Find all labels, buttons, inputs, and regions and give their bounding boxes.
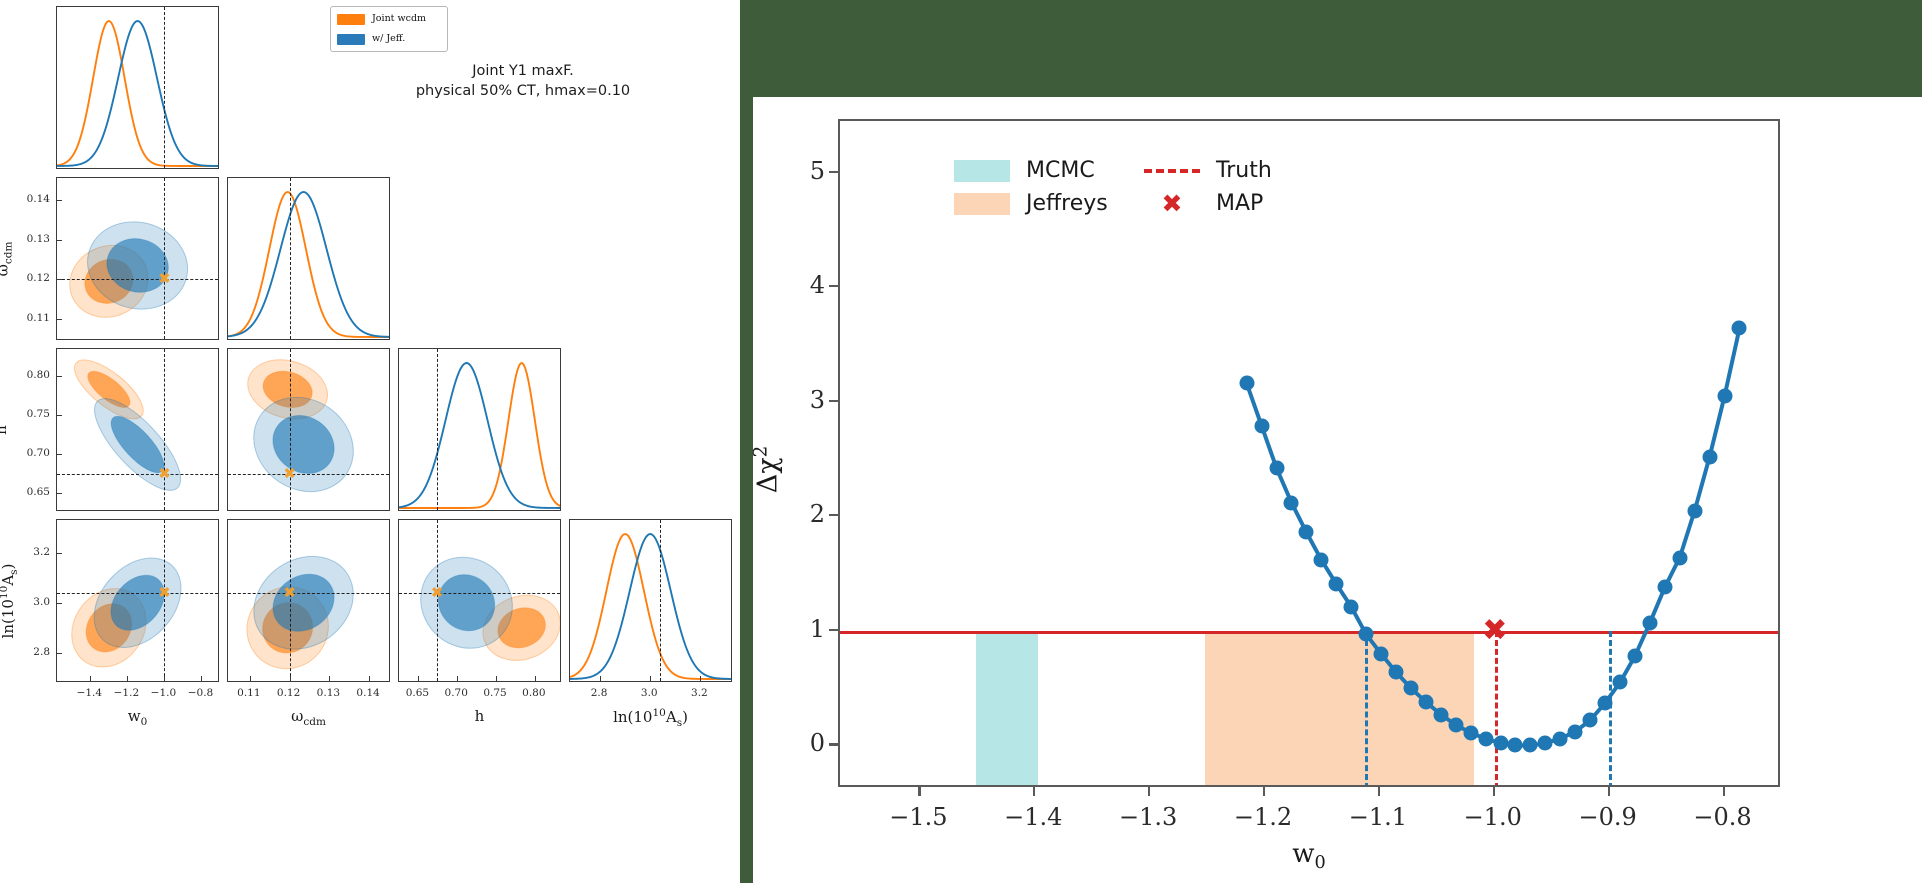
corner-x-tick-label: −1.0: [151, 687, 177, 699]
marginal-curves: [57, 7, 219, 169]
corner-x-tick: [201, 676, 202, 681]
corner-y-tick: [57, 279, 62, 280]
profile-y-tick-label: 1: [783, 615, 825, 643]
profile-y-tick: [829, 285, 838, 287]
profile-y-tick-label: 2: [783, 500, 825, 528]
truth-marker-icon: ✖: [158, 466, 171, 481]
legend-label-joint-wcdm: Joint wcdm: [372, 14, 426, 24]
profile-point: [1463, 725, 1478, 740]
truth-line-horizontal: [399, 593, 560, 594]
corner-ylabel-omegacdm: ωcdm: [0, 241, 15, 276]
corner-y-tick: [57, 200, 62, 201]
corner-ylabel-lnAs: ln(1010As): [0, 563, 20, 638]
truth-line-vertical: [437, 349, 438, 510]
corner-hist-w0: [56, 6, 219, 169]
legend-label-jeffreys: Jeffreys: [1026, 193, 1108, 215]
corner-contour-h-vs-omcdm: ✖: [227, 348, 390, 511]
truth-line-vertical: [290, 349, 291, 510]
profile-point: [1702, 449, 1717, 464]
corner-y-tick-label: 0.80: [6, 369, 50, 381]
contour-ellipses: [228, 349, 390, 511]
corner-y-tick-label: 0.11: [6, 312, 50, 324]
legend-swatch-jeffreys: [954, 193, 1010, 215]
corner-x-tick: [369, 676, 370, 681]
truth-marker-icon: ✖: [431, 585, 444, 600]
profile-point: [1508, 738, 1523, 753]
profile-point: [1374, 646, 1389, 661]
profile-x-tick: [1148, 787, 1150, 796]
legend-swatch-joint-wcdm: [337, 14, 365, 25]
corner-x-tick-label: 0.11: [237, 687, 260, 699]
legend-dashed-line-truth: [1144, 169, 1200, 173]
right-green-backdrop: ✖ MCMC Truth: [740, 0, 1922, 883]
profile-point: [1687, 503, 1702, 518]
marginal-curves: [570, 520, 732, 682]
corner-x-tick-label: 0.75: [483, 687, 506, 699]
corner-x-tick: [496, 676, 497, 681]
corner-y-tick: [57, 653, 62, 654]
legend-label-truth: Truth: [1216, 160, 1272, 182]
corner-x-tick: [290, 676, 291, 681]
corner-xlabel-w0: w0: [128, 707, 148, 728]
profile-point: [1583, 713, 1598, 728]
profile-point: [1598, 696, 1613, 711]
corner-hist-omcdm: [227, 177, 390, 340]
contour-ellipses: [228, 520, 390, 682]
legend-item-jeffreys: Jeffreys: [954, 193, 1144, 215]
profile-point: [1493, 736, 1508, 751]
corner-title-line1: Joint Y1 maxF.: [358, 62, 688, 82]
profile-point: [1269, 461, 1284, 476]
corner-title-line2: physical 50% CT, hmax=0.10: [358, 82, 688, 102]
profile-point: [1478, 731, 1493, 746]
truth-line-vertical: [164, 178, 165, 339]
profile-legend: MCMC Truth Jeffreys: [944, 147, 1324, 227]
profile-x-tick-label: −1.1: [1349, 803, 1407, 831]
truth-line-horizontal: [57, 279, 218, 280]
corner-hist-h: [398, 348, 561, 511]
corner-y-tick: [57, 603, 62, 604]
contour-ellipses: [57, 349, 219, 511]
profile-point: [1568, 724, 1583, 739]
profile-x-tick: [1723, 787, 1725, 796]
corner-x-tick-label: 0.12: [277, 687, 300, 699]
legend-item-mcmc: MCMC: [954, 160, 1144, 182]
profile-x-tick-label: −0.9: [1579, 803, 1637, 831]
corner-y-tick: [57, 319, 62, 320]
profile-x-tick: [1263, 787, 1265, 796]
truth-line-horizontal: [228, 474, 389, 475]
corner-xlabel-lnAs: ln(1010As): [613, 707, 688, 729]
corner-xlabel-omegacdm: ωcdm: [291, 707, 326, 728]
profile-x-tick-label: −1.0: [1464, 803, 1522, 831]
profile-point: [1613, 675, 1628, 690]
truth-line-vertical: [164, 349, 165, 510]
contour-ellipses: [57, 178, 219, 340]
truth-marker-icon: ✖: [283, 585, 296, 600]
marginal-curves: [228, 178, 390, 340]
profile-y-tick: [829, 514, 838, 516]
corner-x-tick: [650, 676, 651, 681]
truth-line-vertical: [164, 7, 165, 168]
profile-y-tick-label: 5: [783, 157, 825, 185]
corner-contour-omcdm-vs-w0: ✖: [56, 177, 219, 340]
profile-x-tick: [1378, 787, 1380, 796]
corner-y-tick: [57, 415, 62, 416]
corner-x-tick-label: 2.8: [591, 687, 608, 699]
profile-x-tick-label: −1.5: [889, 803, 947, 831]
legend-swatch-w-jeff: [337, 34, 365, 45]
profile-y-tick: [829, 629, 838, 631]
corner-x-tick-label: 0.13: [317, 687, 340, 699]
contour-ellipses: [399, 520, 561, 682]
legend-label-mcmc: MCMC: [1026, 160, 1095, 182]
corner-y-tick: [57, 454, 62, 455]
profile-point: [1448, 717, 1463, 732]
corner-x-tick: [457, 676, 458, 681]
profile-x-tick-label: −1.4: [1004, 803, 1062, 831]
profile-point: [1418, 694, 1433, 709]
corner-y-tick: [57, 376, 62, 377]
truth-line-vertical: [290, 178, 291, 339]
profile-y-axis-label-text: Δχ2: [752, 446, 783, 494]
corner-x-tick-label: −1.4: [77, 687, 103, 699]
profile-point: [1553, 731, 1568, 746]
profile-plot: ✖ MCMC Truth: [753, 97, 1922, 883]
corner-x-tick-label: 0.14: [356, 687, 379, 699]
profile-point: [1717, 388, 1732, 403]
truth-line-vertical: [660, 520, 661, 681]
profile-y-axis-label: Δχ2: [750, 446, 783, 494]
profile-y-tick-label: 3: [783, 386, 825, 414]
profile-plot-card: ✖ MCMC Truth: [753, 97, 1922, 883]
profile-point: [1642, 615, 1657, 630]
cross-icon: ✖: [1144, 191, 1200, 216]
profile-point: [1314, 552, 1329, 567]
corner-x-tick-label: 0.65: [406, 687, 429, 699]
truth-line-horizontal: [228, 593, 389, 594]
profile-y-tick: [829, 400, 838, 402]
corner-contour-lnAs-vs-omcdm: ✖: [227, 519, 390, 682]
contour-ellipses: [57, 520, 219, 682]
profile-x-tick-label: −0.8: [1693, 803, 1751, 831]
corner-x-tick: [329, 676, 330, 681]
profile-point: [1344, 599, 1359, 614]
corner-contour-lnAs-vs-w0: ✖: [56, 519, 219, 682]
figure-root: Joint wcdm w/ Jeff. Joint Y1 maxF. physi…: [0, 0, 1922, 883]
corner-ylabel-h: h: [0, 425, 10, 435]
profile-point: [1299, 525, 1314, 540]
corner-x-tick: [700, 676, 701, 681]
corner-hist-lnAs: [569, 519, 732, 682]
truth-marker-icon: ✖: [158, 272, 171, 287]
profile-point: [1284, 495, 1299, 510]
legend-item-joint-wcdm: Joint wcdm: [337, 12, 441, 26]
corner-x-tick: [418, 676, 419, 681]
profile-x-axis-label: w0: [838, 839, 1780, 873]
corner-x-tick: [164, 676, 165, 681]
truth-line-horizontal: [57, 593, 218, 594]
profile-point: [1672, 550, 1687, 565]
profile-point: [1538, 736, 1553, 751]
profile-point: [1239, 376, 1254, 391]
corner-y-tick-label: 3.2: [6, 546, 50, 558]
corner-x-tick-label: 0.80: [522, 687, 545, 699]
corner-plot-title: Joint Y1 maxF. physical 50% CT, hmax=0.1…: [358, 62, 688, 101]
corner-x-tick: [90, 676, 91, 681]
profile-x-tick: [1493, 787, 1495, 796]
profile-y-tick-label: 0: [783, 729, 825, 757]
corner-x-tick-label: 0.70: [445, 687, 468, 699]
corner-x-tick: [535, 676, 536, 681]
profile-point: [1627, 649, 1642, 664]
corner-contour-lnAs-vs-h: ✖: [398, 519, 561, 682]
profile-x-axis-label-text: w0: [1292, 839, 1326, 869]
map-marker-icon: ✖: [1482, 616, 1507, 646]
truth-marker-icon: ✖: [158, 585, 171, 600]
profile-y-tick-label: 4: [783, 271, 825, 299]
corner-x-tick-label: −0.8: [188, 687, 214, 699]
profile-point: [1523, 738, 1538, 753]
corner-x-tick-label: 3.2: [691, 687, 708, 699]
truth-line-horizontal: [57, 474, 218, 475]
profile-legend-row-1: MCMC Truth: [954, 156, 1314, 186]
corner-y-tick: [57, 553, 62, 554]
profile-y-tick: [829, 743, 838, 745]
corner-x-tick-label: −1.2: [114, 687, 140, 699]
corner-xlabel-h: h: [475, 707, 485, 725]
corner-y-tick-label: 0.65: [6, 486, 50, 498]
profile-x-tick: [1608, 787, 1610, 796]
corner-y-tick: [57, 493, 62, 494]
corner-y-tick-label: 0.70: [6, 447, 50, 459]
profile-y-tick: [829, 171, 838, 173]
legend-item-w-jeff: w/ Jeff.: [337, 32, 441, 46]
legend-swatch-mcmc: [954, 160, 1010, 182]
truth-marker-icon: ✖: [283, 466, 296, 481]
corner-y-tick: [57, 240, 62, 241]
profile-point: [1433, 707, 1448, 722]
profile-point: [1329, 576, 1344, 591]
profile-point: [1732, 321, 1747, 336]
profile-legend-row-2: Jeffreys ✖ MAP: [954, 189, 1314, 219]
corner-contour-h-vs-w0: ✖: [56, 348, 219, 511]
profile-point: [1254, 418, 1269, 433]
legend-label-map: MAP: [1216, 193, 1263, 215]
legend-item-truth: Truth: [1144, 160, 1272, 182]
profile-point: [1359, 627, 1374, 642]
corner-y-tick-label: 2.8: [6, 646, 50, 658]
legend-item-map: ✖ MAP: [1144, 191, 1263, 216]
corner-y-tick-label: 0.14: [6, 193, 50, 205]
marginal-curves: [399, 349, 561, 511]
profile-axes: ✖ MCMC Truth: [838, 119, 1780, 787]
corner-y-tick-label: 0.75: [6, 408, 50, 420]
profile-x-tick-label: −1.2: [1234, 803, 1292, 831]
profile-x-tick: [918, 787, 920, 796]
corner-plot-legend: Joint wcdm w/ Jeff.: [330, 6, 448, 52]
profile-x-tick: [1033, 787, 1035, 796]
legend-label-w-jeff: w/ Jeff.: [372, 34, 405, 44]
corner-x-tick: [250, 676, 251, 681]
corner-x-tick-label: 3.0: [641, 687, 658, 699]
profile-x-tick-label: −1.3: [1119, 803, 1177, 831]
profile-point: [1403, 681, 1418, 696]
corner-plot-panel: Joint wcdm w/ Jeff. Joint Y1 maxF. physi…: [0, 0, 740, 883]
corner-x-tick: [127, 676, 128, 681]
profile-point: [1389, 665, 1404, 680]
corner-x-tick: [600, 676, 601, 681]
profile-point: [1657, 580, 1672, 595]
